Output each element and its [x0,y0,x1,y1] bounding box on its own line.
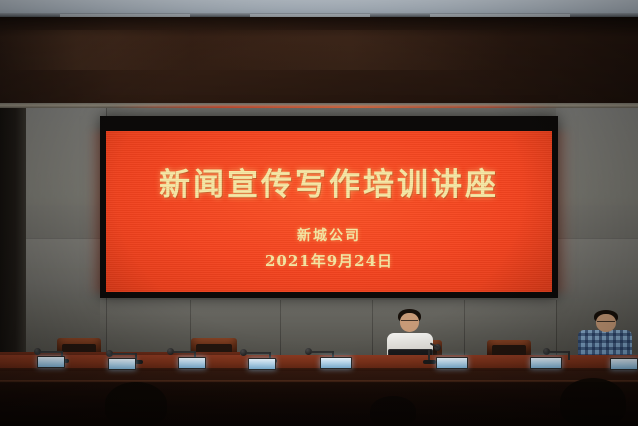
microphone-arm [40,351,62,353]
microphone-arm [246,352,270,354]
attendee-glasses [597,321,615,325]
slide-subtitle: 新城公司 [106,225,552,245]
microphone-stem [568,351,570,360]
microphone-arm [549,351,569,353]
nameplate-display [248,358,276,370]
wood-wall-sheen [0,30,638,70]
microphone-arm [173,351,195,353]
slide-date: 2021年9月24日 [106,250,552,271]
audience-member-center [370,396,416,426]
microphone-arm [112,353,136,355]
led-screen: 新闻宣传写作培训讲座 新城公司 2021年9月24日 [106,131,552,292]
conference-hall-photo: 新闻宣传写作培训讲座 新城公司 2021年9月24日 [0,0,638,426]
nameplate-display [37,356,65,368]
wall-left-shadow [0,108,26,358]
nameplate-display [108,358,136,370]
audience-member-right [560,378,626,426]
slide-title: 新闻宣传写作培训讲座 [106,159,552,204]
microphone-base [423,360,436,364]
nameplate-display [530,357,562,369]
speaker-glasses [401,320,418,324]
nameplate-display [320,357,352,369]
nameplate-display [436,357,468,369]
audience-member-left [105,382,167,426]
nameplate-display [610,358,638,370]
nameplate-display [178,357,206,369]
desk-front-rail [0,380,638,383]
microphone-arm [311,351,333,353]
